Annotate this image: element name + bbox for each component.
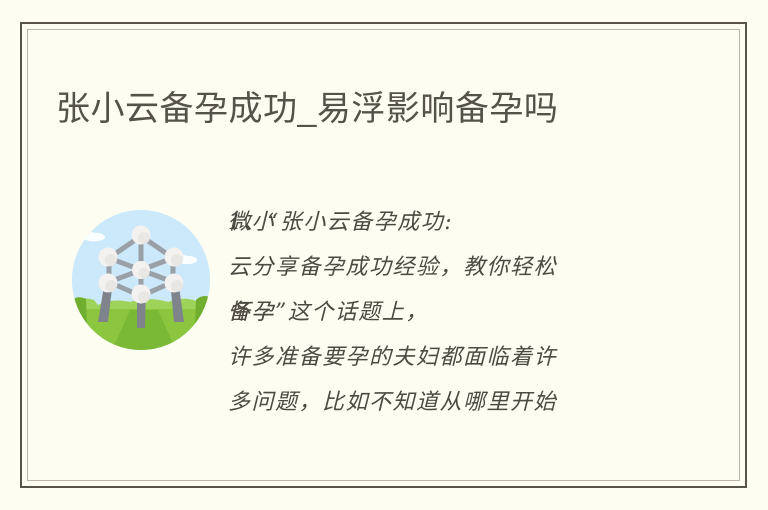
page-title: 张小云备孕成功_易浮影响备孕吗 [56, 87, 696, 131]
article-line-4: 许多准备要孕的夫妇都面临着许 [228, 335, 658, 380]
article-thumbnail [72, 210, 210, 350]
article-line-1-overlay: 微小 [228, 200, 275, 245]
article-line-3-overlay: 备孕 [228, 290, 275, 335]
article-line-2: 云分享备孕成功经验，教你轻松 [228, 245, 658, 290]
article-line-5-text: 多问题，比如不知道从哪里开始 [228, 390, 557, 415]
article-body: 1、“张小云备孕成功: 微小 云分享备孕成功经验，教你轻松 怀孕”这个话题上， … [228, 200, 658, 425]
article-content: 1、“张小云备孕成功: 微小 云分享备孕成功经验，教你轻松 怀孕”这个话题上， … [56, 200, 696, 450]
article-page: 张小云备孕成功_易浮影响备孕吗 [0, 0, 768, 510]
article-line-5: 多问题，比如不知道从哪里开始 [228, 380, 658, 425]
article-line-3: 怀孕”这个话题上， 备孕 [228, 290, 658, 335]
article-line-4-text: 许多准备要孕的夫妇都面临着许 [228, 345, 557, 370]
article-line-1: 1、“张小云备孕成功: 微小 [228, 200, 658, 245]
article-line-2-text: 云分享备孕成功经验，教你轻松 [228, 255, 557, 280]
thumbnail-circle [72, 210, 210, 350]
atomium-monument-illustration [72, 210, 210, 350]
